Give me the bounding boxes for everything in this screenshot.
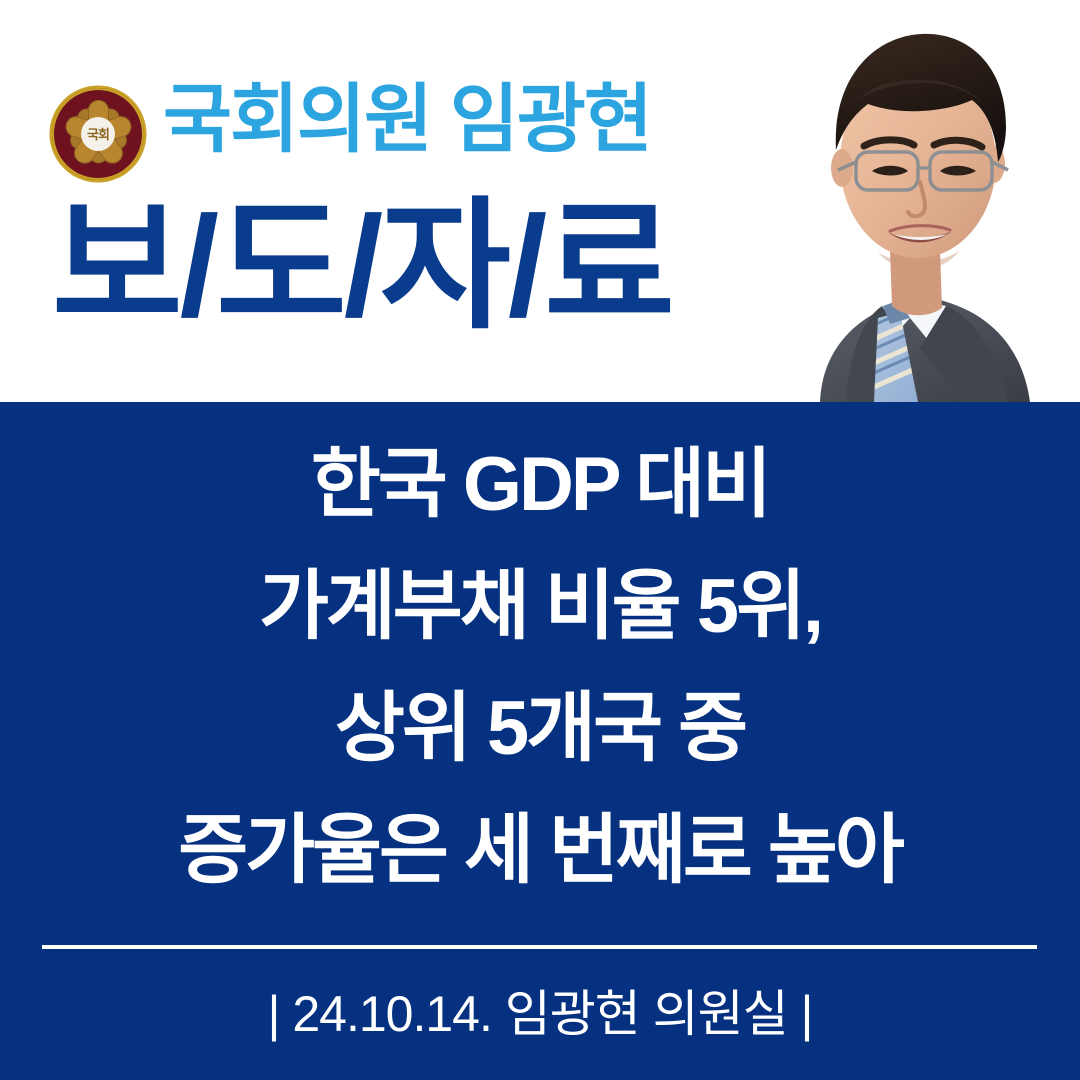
footer-credit: | 24.10.14. 임광현 의원실 | <box>0 974 1080 1046</box>
footer-divider <box>42 945 1037 949</box>
headline-line-2: 가계부채 비율 5위, <box>0 546 1080 668</box>
header-title: 국회의원 임광현 <box>163 82 651 157</box>
headline-line-1: 한국 GDP 대비 <box>0 424 1080 546</box>
portrait-photo <box>750 0 1080 402</box>
headline-block: 한국 GDP 대비 가계부채 비율 5위, 상위 5개국 중 증가율은 세 번째… <box>0 424 1080 912</box>
national-assembly-emblem-icon: 국회 <box>52 88 144 180</box>
portrait-illustration <box>750 0 1080 402</box>
header-subtitle: 보/도/자/료 <box>52 196 672 338</box>
press-release-card: 국회 국회의원 임광현 보/도/자/료 <box>0 0 1080 1080</box>
emblem-center-label: 국회 <box>81 117 115 151</box>
header-band: 국회 국회의원 임광현 보/도/자/료 <box>0 0 1080 402</box>
body-band: 한국 GDP 대비 가계부채 비율 5위, 상위 5개국 중 증가율은 세 번째… <box>0 402 1080 1080</box>
headline-line-4: 증가율은 세 번째로 높아 <box>0 790 1080 912</box>
headline-line-3: 상위 5개국 중 <box>0 668 1080 790</box>
